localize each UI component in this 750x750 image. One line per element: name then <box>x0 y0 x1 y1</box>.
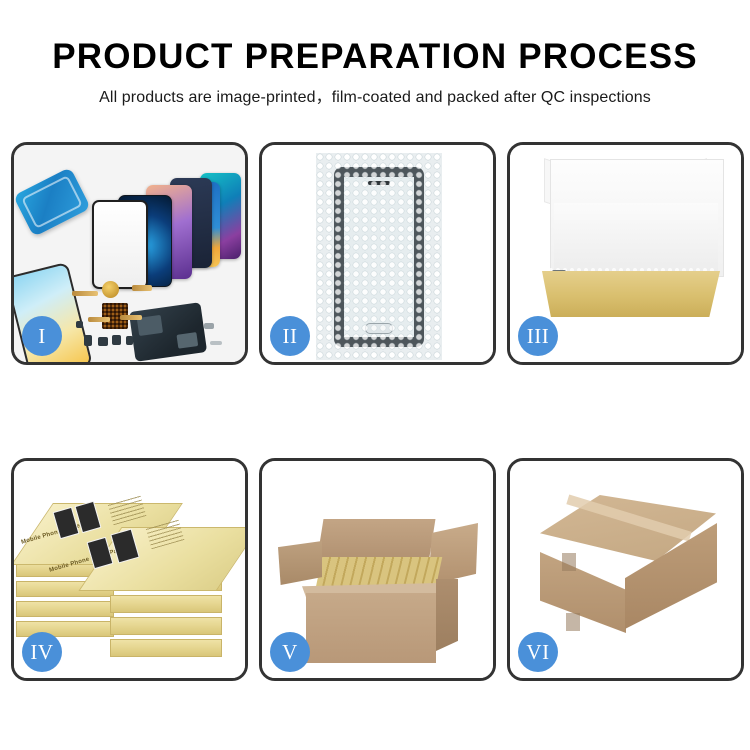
small-part-1 <box>84 335 92 346</box>
logic-board-part <box>129 302 207 362</box>
step-panel-4: Mobile Phone Spare Parts Mobile Phone Sp… <box>11 458 248 681</box>
step-panel-1: I <box>11 142 248 365</box>
step-badge-2: II <box>270 316 310 356</box>
flex-cable-part-1 <box>72 291 98 296</box>
small-part-5 <box>76 321 83 328</box>
carton-tab-upper <box>562 553 576 571</box>
small-part-4 <box>126 336 133 345</box>
kraft-box-tray <box>542 271 720 317</box>
vibrator-motor-part <box>102 281 119 298</box>
step-badge-6: VI <box>518 632 558 672</box>
retail-box-l3 <box>16 601 114 617</box>
process-steps-grid: I II <box>0 0 750 750</box>
bubble-wrap-sheet <box>316 153 442 360</box>
screwdriver-part <box>210 341 222 345</box>
phone-white <box>92 200 148 289</box>
tweezers-part <box>204 323 214 329</box>
step-panel-6: VI <box>507 458 744 681</box>
step-panel-3: III <box>507 142 744 365</box>
step-panel-5: V <box>259 458 496 681</box>
home-button-cutout <box>365 323 393 334</box>
small-part-2 <box>98 337 108 346</box>
carton-tab-lower <box>566 613 580 631</box>
retail-box-r2 <box>110 595 222 613</box>
carton-left-face <box>540 543 626 633</box>
step-badge-1: I <box>22 316 62 356</box>
carton-flap-left <box>278 541 322 585</box>
flex-cable-part-2 <box>132 285 152 291</box>
step-badge-4: IV <box>22 632 62 672</box>
screen-adhesive-film <box>14 167 91 237</box>
step-badge-3: III <box>518 316 558 356</box>
step-badge-5: V <box>270 632 310 672</box>
carton-side-face <box>436 579 458 651</box>
flex-cable-part-3 <box>88 317 110 322</box>
retail-box-r4 <box>110 639 222 657</box>
small-part-3 <box>112 335 121 345</box>
earpiece-slot <box>368 181 390 185</box>
foam-lining <box>554 203 718 275</box>
phone-glass-panel <box>334 167 424 347</box>
retail-box-r3 <box>110 617 222 635</box>
flex-cable-part-4 <box>120 315 142 320</box>
step-panel-2: II <box>259 142 496 365</box>
carton-front-face <box>306 593 436 663</box>
